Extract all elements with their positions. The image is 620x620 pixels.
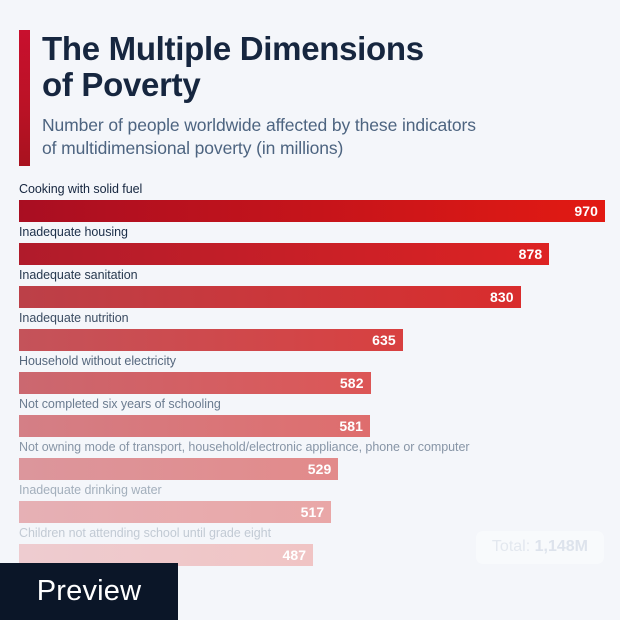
bar-row: Not owning mode of transport, household/… xyxy=(19,440,605,483)
bar-fill[interactable]: 878 xyxy=(19,243,549,265)
bar-value: 529 xyxy=(308,461,332,477)
bar-row: Cooking with solid fuel970 xyxy=(19,182,605,225)
bar-label: Inadequate drinking water xyxy=(19,483,605,501)
bar-fill[interactable]: 582 xyxy=(19,372,371,394)
bar-label: Inadequate sanitation xyxy=(19,268,605,286)
subtitle-line-1: Number of people worldwide affected by t… xyxy=(42,115,476,135)
accent-bar xyxy=(19,30,30,166)
bar-value: 487 xyxy=(283,547,307,563)
bar-label: Cooking with solid fuel xyxy=(19,182,605,200)
bar-fill[interactable]: 970 xyxy=(19,200,605,222)
bar-row: Inadequate sanitation830 xyxy=(19,268,605,311)
bar-label: Inadequate nutrition xyxy=(19,311,605,329)
bar-value: 878 xyxy=(519,246,543,262)
bar-row: Household without electricity582 xyxy=(19,354,605,397)
total-label: Total: xyxy=(492,538,530,555)
bar-value: 830 xyxy=(490,289,514,305)
bar-track: 517 xyxy=(19,501,605,523)
bar-label: Inadequate housing xyxy=(19,225,605,243)
bar-fill[interactable]: 830 xyxy=(19,286,521,308)
total-badge: Total: 1,148M xyxy=(476,531,604,564)
preview-banner: Preview xyxy=(0,563,178,620)
page-title: The Multiple Dimensions of Poverty xyxy=(42,30,601,103)
bar-value: 582 xyxy=(340,375,364,391)
bar-chart: Cooking with solid fuel970Inadequate hou… xyxy=(19,182,605,569)
title-line-1: The Multiple Dimensions xyxy=(42,30,424,67)
bar-row: Inadequate housing878 xyxy=(19,225,605,268)
bar-value: 517 xyxy=(301,504,325,520)
bar-row: Not completed six years of schooling581 xyxy=(19,397,605,440)
bar-fill[interactable]: 529 xyxy=(19,458,338,480)
bar-row: Inadequate nutrition635 xyxy=(19,311,605,354)
bar-fill[interactable]: 581 xyxy=(19,415,370,437)
infographic-root: The Multiple Dimensions of Poverty Numbe… xyxy=(0,0,620,620)
bar-label: Household without electricity xyxy=(19,354,605,372)
subtitle-line-2: of multidimensional poverty (in millions… xyxy=(42,138,343,158)
header-text: The Multiple Dimensions of Poverty Numbe… xyxy=(42,30,601,160)
total-value: 1,148M xyxy=(535,538,588,555)
bar-track: 970 xyxy=(19,200,605,222)
bar-track: 878 xyxy=(19,243,605,265)
bar-track: 582 xyxy=(19,372,605,394)
bar-track: 830 xyxy=(19,286,605,308)
bar-value: 970 xyxy=(574,203,598,219)
bar-fill[interactable]: 635 xyxy=(19,329,403,351)
bar-track: 529 xyxy=(19,458,605,480)
bar-value: 635 xyxy=(372,332,396,348)
bar-track: 635 xyxy=(19,329,605,351)
bar-label: Not owning mode of transport, household/… xyxy=(19,440,605,458)
bar-label: Not completed six years of schooling xyxy=(19,397,605,415)
preview-label: Preview xyxy=(37,575,142,608)
bar-row: Inadequate drinking water517 xyxy=(19,483,605,526)
bar-value: 581 xyxy=(339,418,363,434)
title-line-2: of Poverty xyxy=(42,66,200,103)
page-subtitle: Number of people worldwide affected by t… xyxy=(42,103,601,160)
bar-track: 581 xyxy=(19,415,605,437)
bar-fill[interactable]: 517 xyxy=(19,501,331,523)
header: The Multiple Dimensions of Poverty Numbe… xyxy=(19,30,601,160)
